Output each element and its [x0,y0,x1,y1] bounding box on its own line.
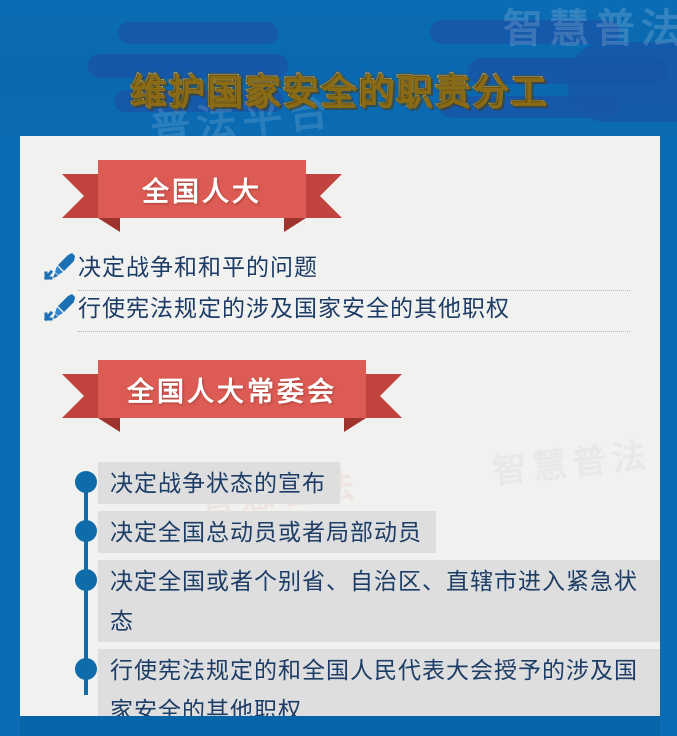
header-deco-bar-right-1 [430,20,620,44]
ribbon-label: 全国人大 [142,170,262,209]
infographic-poster: 智慧普法 普法平台 维护国家安全的职责分工 智慧普法 智慧普法 智慧普法 全国人… [0,0,677,736]
list-item: 决定战争状态的宣布 [20,462,660,504]
left-blue-edge [0,136,20,736]
header-deco-bar-left-1 [118,22,278,44]
npcsc-duty-timeline: 决定战争状态的宣布 决定全国总动员或者局部动员 决定全国或者个别省、自治区、直辖… [20,462,660,716]
right-blue-edge [660,136,677,736]
list-item-label: 行使宪法规定的涉及国家安全的其他职权 [78,291,630,332]
timeline-dot-icon [75,520,97,542]
list-item: 行使宪法规定的涉及国家安全的其他职权 [20,291,660,332]
list-item: 决定全国或者个别省、自治区、直辖市进入紧急状态 [20,560,660,642]
ribbon-band: 全国人大常委会 [98,360,366,418]
ribbon-fold-right [284,218,306,232]
ribbon-fold-left [98,218,120,232]
list-item: 决定战争和和平的问题 [20,250,660,291]
pencil-icon [42,293,78,327]
list-item-label: 决定战争和和平的问题 [78,250,630,291]
npc-duty-list: 决定战争和和平的问题 行使宪法规定的涉及国家安全的其他职权 [20,250,660,332]
ribbon-fold-left [98,418,120,432]
page-title: 维护国家安全的职责分工 [0,62,677,114]
content-panel: 智慧普法 智慧普法 智慧普法 全国人大 [20,136,660,716]
pencil-icon [42,252,78,286]
section-ribbon-npcsc: 全国人大常委会 [62,360,402,428]
poster-header: 智慧普法 普法平台 维护国家安全的职责分工 [0,0,677,136]
list-item: 决定全国总动员或者局部动员 [20,511,660,553]
list-item-label: 决定全国总动员或者局部动员 [98,511,436,553]
list-item-label: 行使宪法规定的和全国人民代表大会授予的涉及国家安全的其他职权 [98,649,660,716]
ribbon-fold-right [344,418,366,432]
list-item-label: 决定全国或者个别省、自治区、直辖市进入紧急状态 [98,560,660,642]
list-item: 行使宪法规定的和全国人民代表大会授予的涉及国家安全的其他职权 [20,649,660,716]
timeline-dot-icon [75,471,97,493]
section-ribbon-npc: 全国人大 [62,160,342,228]
ribbon-label: 全国人大常委会 [127,370,337,409]
timeline-dot-icon [75,658,97,680]
list-item-label: 决定战争状态的宣布 [98,462,340,504]
ribbon-band: 全国人大 [98,160,306,218]
timeline-dot-icon [75,569,97,591]
